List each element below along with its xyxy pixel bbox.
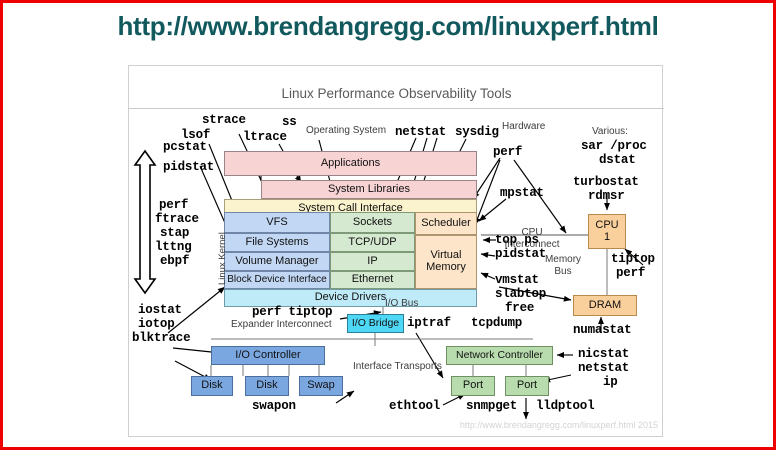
tool-strace: strace: [202, 113, 246, 127]
cpu-index: 1: [604, 232, 610, 244]
page-title: http://www.brendangregg.com/linuxperf.ht…: [3, 11, 773, 42]
tool-iptraf: iptraf: [407, 316, 451, 330]
box-port-1: Port: [451, 376, 495, 396]
label-operating-system: Operating System: [306, 125, 386, 136]
tool-numastat: numastat: [573, 323, 631, 337]
virtual-memory-line2: Memory: [426, 262, 466, 274]
tool-tiptop: tiptop: [611, 252, 655, 266]
box-io-bridge: I/O Bridge: [347, 314, 404, 333]
box-block-device-interface: Block Device Interface: [224, 271, 330, 289]
tool-lldptool: lldptool: [536, 399, 594, 413]
box-vfs: VFS: [224, 212, 330, 233]
box-dram: DRAM: [573, 295, 637, 316]
tool-iostat: iostat: [138, 303, 182, 317]
diagram-title: Linux Performance Observability Tools: [129, 86, 664, 101]
tool-sar-proc: sar /proc: [581, 139, 647, 153]
tool-netstat-right: netstat: [578, 361, 629, 375]
tool-ltrace: ltrace: [243, 130, 287, 144]
tool-mpstat: mpstat: [500, 186, 544, 200]
box-sockets: Sockets: [330, 212, 415, 233]
title-divider: [129, 108, 664, 109]
box-disk-1: Disk: [191, 376, 233, 396]
diagram-footer: http://www.brendangregg.com/linuxperf.ht…: [129, 420, 658, 430]
slide-root: http://www.brendangregg.com/linuxperf.ht…: [3, 3, 773, 447]
tool-perf-cpu: perf: [616, 266, 645, 280]
box-cpu-1: CPU 1: [588, 214, 626, 249]
tool-ftrace: ftrace: [155, 212, 199, 226]
tool-rdmsr: rdmsr: [588, 189, 625, 203]
box-port-2: Port: [505, 376, 549, 396]
tool-perf-hw: perf: [493, 145, 522, 159]
box-virtual-memory: Virtual Memory: [415, 235, 477, 289]
box-scheduler: Scheduler: [415, 212, 477, 235]
box-ethernet: Ethernet: [330, 271, 415, 289]
tool-slabtop: slabtop: [495, 287, 546, 301]
tool-lttng: lttng: [155, 240, 192, 254]
tool-top-ps: top ps: [495, 233, 539, 247]
tool-ethtool: ethtool: [389, 399, 440, 413]
box-io-controller: I/O Controller: [211, 346, 325, 365]
label-interface-transports: Interface Transports: [353, 361, 442, 372]
tool-free: free: [505, 301, 534, 315]
label-linux-kernel: Linux Kernel: [217, 232, 228, 285]
tool-blktrace: blktrace: [132, 331, 190, 345]
box-network-controller: Network Controller: [446, 346, 553, 365]
tool-netstat-top: netstat: [395, 125, 446, 139]
label-io-bus: I/O Bus: [385, 298, 418, 309]
tool-stap: stap: [160, 226, 189, 240]
box-volume-manager: Volume Manager: [224, 252, 330, 271]
box-disk-2: Disk: [245, 376, 289, 396]
label-various: Various:: [592, 126, 628, 137]
tool-tcpdump: tcpdump: [471, 316, 522, 330]
tool-pidstat-right: pidstat: [495, 247, 546, 261]
tool-pcstat: pcstat: [163, 140, 207, 154]
tool-ebpf: ebpf: [160, 254, 189, 268]
tool-iotop: iotop: [138, 317, 175, 331]
box-tcp-udp: TCP/UDP: [330, 233, 415, 252]
tool-ip: ip: [603, 375, 618, 389]
label-hardware: Hardware: [502, 121, 545, 132]
tool-ss: ss: [282, 115, 297, 129]
tool-vmstat: vmstat: [495, 273, 539, 287]
tool-sysdig: sysdig: [455, 125, 499, 139]
tool-perf-left: perf: [159, 198, 188, 212]
tool-turbostat: turbostat: [573, 175, 639, 189]
box-system-libraries: System Libraries: [261, 180, 477, 199]
tool-perf-tiptop: perf tiptop: [252, 305, 332, 319]
tool-nicstat: nicstat: [578, 347, 629, 361]
box-file-systems: File Systems: [224, 233, 330, 252]
label-expander-interconnect: Expander Interconnect: [231, 319, 332, 330]
tool-dstat: dstat: [599, 153, 636, 167]
box-swap: Swap: [299, 376, 343, 396]
tool-snmpget: snmpget: [466, 399, 517, 413]
tool-pidstat: pidstat: [163, 160, 214, 174]
cpu-label: CPU: [595, 220, 618, 232]
box-ip: IP: [330, 252, 415, 271]
box-applications: Applications: [224, 151, 477, 176]
tool-swapon: swapon: [252, 399, 296, 413]
label-memory-bus: Memory Bus: [540, 254, 586, 277]
